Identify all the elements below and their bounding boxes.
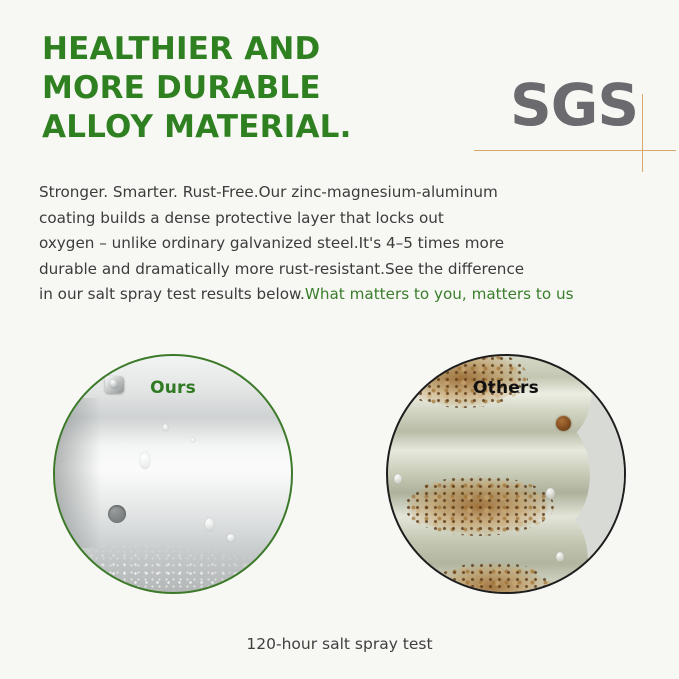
body-tagline: What matters to you, matters to us (305, 285, 574, 303)
page-title: HEALTHIER AND MORE DURABLE ALLOY MATERIA… (42, 30, 462, 147)
body-line-4: durable and dramatically more rust-resis… (39, 257, 649, 283)
body-line-1: Stronger. Smarter. Rust-Free.Our zinc-ma… (39, 180, 649, 206)
water-droplet (140, 452, 150, 469)
sgs-vertical-rule (642, 94, 643, 172)
headline-line-3: ALLOY MATERIAL. (42, 108, 462, 147)
test-caption: 120-hour salt spray test (0, 635, 679, 653)
sample-ours: Ours (53, 354, 293, 594)
water-droplet (191, 438, 195, 442)
rust-patch-bottom (432, 562, 552, 594)
comparison-section: Ours Others (0, 352, 679, 602)
body-line-5: in our salt spray test results below.Wha… (39, 282, 649, 308)
body-paragraph: Stronger. Smarter. Rust-Free.Our zinc-ma… (39, 180, 649, 308)
sgs-logo: SGS (474, 74, 676, 156)
body-line-3: oxygen – unlike ordinary galvanized stee… (39, 231, 649, 257)
sample-label-others: Others (388, 378, 624, 398)
sample-others: Others (386, 354, 626, 594)
surface-droplet (546, 488, 555, 499)
sgs-horizontal-rule (474, 150, 676, 151)
sgs-logo-text: SGS (510, 74, 638, 136)
surface-droplet (556, 552, 564, 562)
body-line-2: coating builds a dense protective layer … (39, 206, 649, 232)
body-line-5-plain: in our salt spray test results below. (39, 285, 305, 303)
surface-droplet (394, 474, 402, 484)
water-droplet (163, 424, 168, 431)
mounting-hole (108, 505, 126, 523)
rust-spot (556, 416, 571, 431)
rust-patch-middle (404, 476, 554, 536)
sample-label-ours: Ours (55, 378, 291, 398)
water-mist-spray (75, 524, 285, 590)
headline-line-1: HEALTHIER AND (42, 30, 462, 69)
infographic-page: HEALTHIER AND MORE DURABLE ALLOY MATERIA… (0, 0, 679, 679)
headline-line-2: MORE DURABLE (42, 69, 462, 108)
